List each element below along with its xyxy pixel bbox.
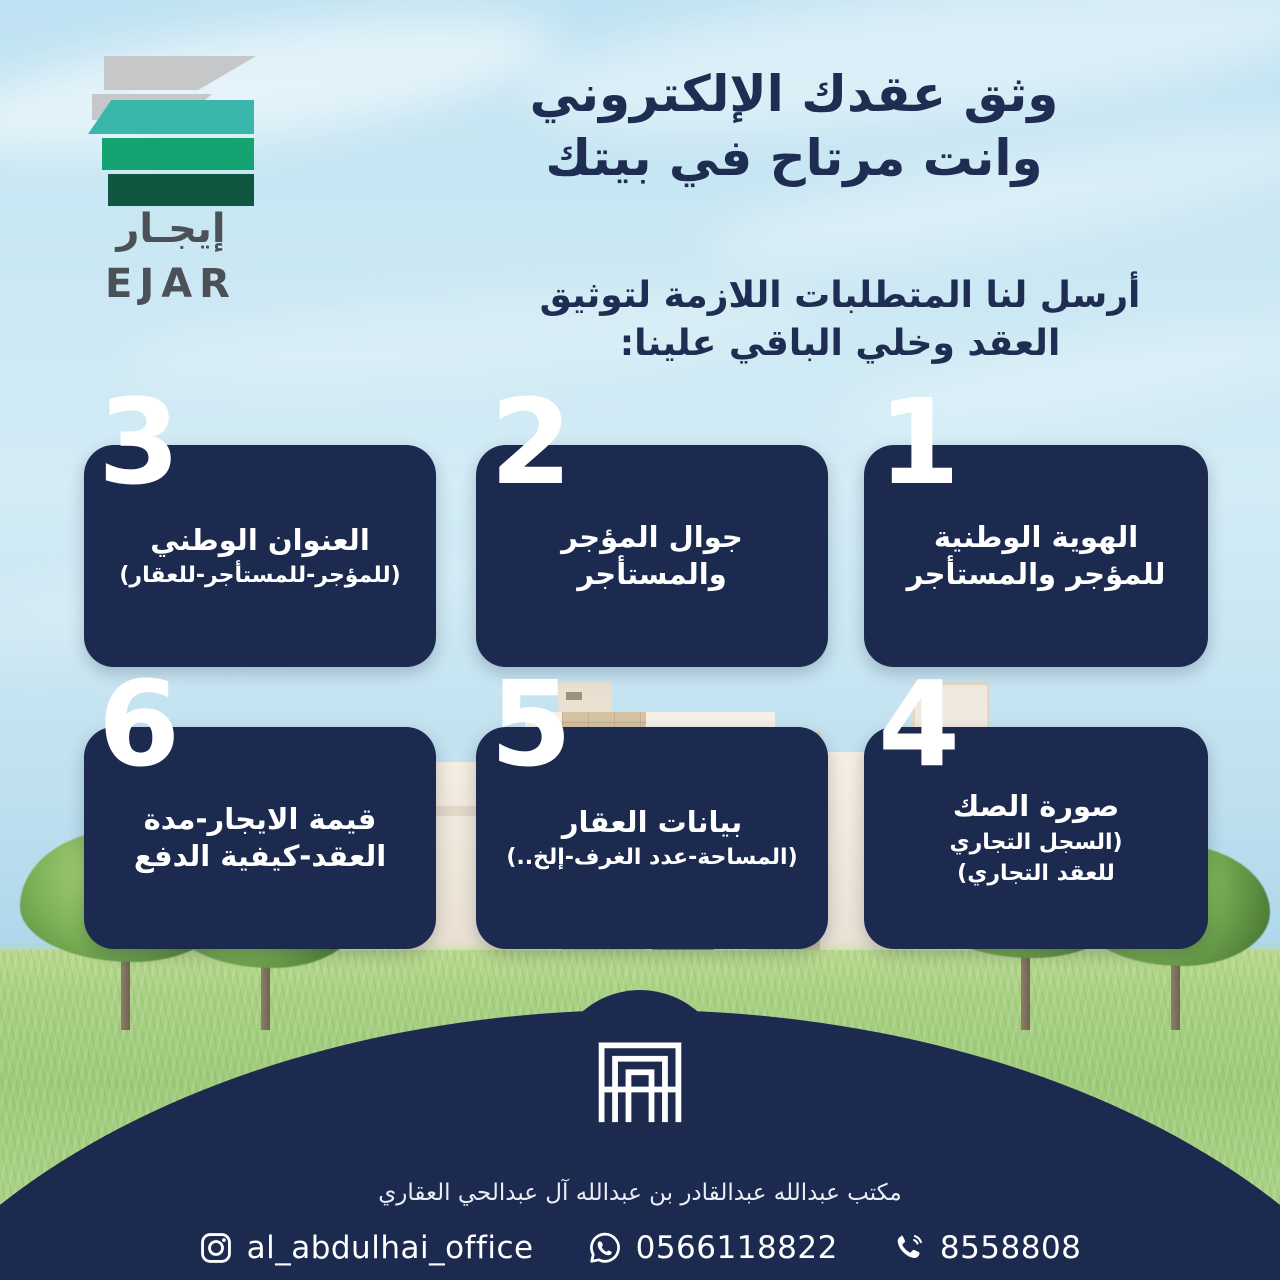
office-logo-badge [552,990,728,1166]
phone-icon [892,1231,926,1265]
requirement-card-5: 5 بيانات العقار (المساحة-عدد الغرف-إلخ..… [476,727,828,949]
card-number: 2 [490,383,572,501]
card-title: الهوية الوطنية [934,519,1138,556]
instagram-handle: al_abdulhai_office [247,1230,534,1266]
contact-instagram[interactable]: al_abdulhai_office [199,1230,534,1266]
card-title: بيانات العقار [562,804,742,841]
card-subtitle: (للمؤجر-للمستأجر-للعقار) [119,562,400,590]
card-title-line-2: للمؤجر والمستأجر [907,556,1166,593]
instagram-icon [199,1231,233,1265]
requirement-card-4: 4 صورة الصك (السجل التجاري للعقد التجاري… [864,727,1208,949]
card-subtitle: (السجل التجاري [949,829,1122,857]
card-title: قيمة الايجار-مدة [144,801,377,838]
requirement-card-2: 2 جوال المؤجر والمستأجر [476,445,828,667]
whatsapp-icon [588,1231,622,1265]
office-name: مكتب عبدالله عبدالقادر بن عبدالله آل عبد… [0,1180,1280,1206]
whatsapp-number: 0566118822 [636,1230,838,1266]
requirement-card-6: 6 قيمة الايجار-مدة العقد-كيفية الدفع [84,727,436,949]
contact-whatsapp[interactable]: 0566118822 [588,1230,838,1266]
card-subtitle-line-2: للعقد التجاري) [957,860,1115,888]
card-title: جوال المؤجر [561,519,743,556]
requirement-card-3: 3 العنوان الوطني (للمؤجر-للمستأجر-للعقار… [84,445,436,667]
phone-number: 8558808 [940,1230,1082,1266]
card-number: 6 [98,665,180,783]
card-number: 5 [490,665,572,783]
card-number: 3 [98,383,180,501]
card-title-line-2: العقد-كيفية الدفع [134,838,386,875]
card-title-line-2: والمستأجر [577,556,726,593]
contact-phone[interactable]: 8558808 [892,1230,1082,1266]
requirement-card-1: 1 الهوية الوطنية للمؤجر والمستأجر [864,445,1208,667]
card-title: العنوان الوطني [150,522,370,559]
card-subtitle: (المساحة-عدد الغرف-إلخ..) [506,844,797,872]
poster-canvas: إيجـار EJAR وثق عقدك الإلكتروني وانت مرت… [0,0,1280,1280]
card-number: 1 [878,383,960,501]
contact-row: al_abdulhai_office 0566118822 8558808 [0,1230,1280,1266]
card-number: 4 [878,665,960,783]
arch-monogram-icon [592,1030,688,1126]
card-title: صورة الصك [953,788,1120,825]
